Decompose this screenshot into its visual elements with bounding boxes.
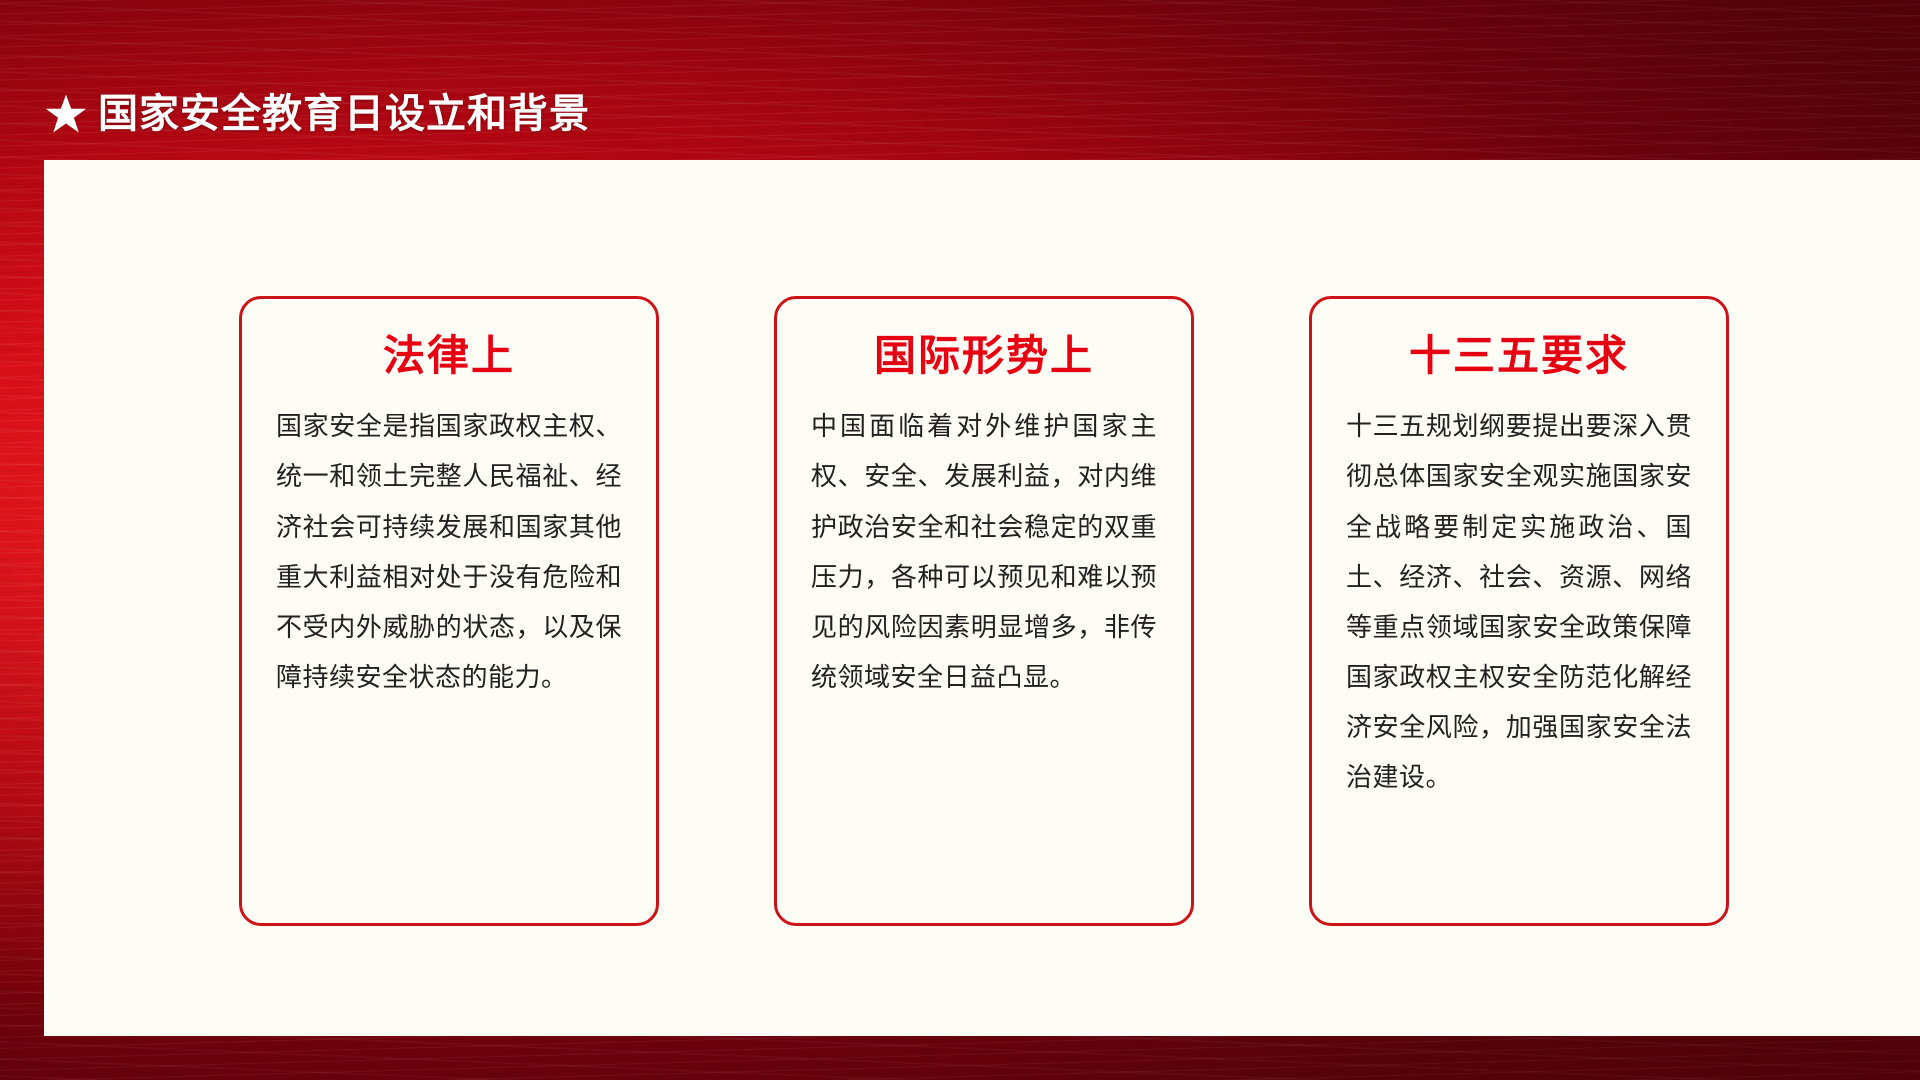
card-body: 中国面临着对外维护国家主权、安全、发展利益，对内维护政治安全和社会稳定的双重压力… xyxy=(811,401,1157,702)
info-card-international-situation: 国际形势上 中国面临着对外维护国家主权、安全、发展利益，对内维护政治安全和社会稳… xyxy=(774,296,1194,926)
info-card-legal: 法律上 国家安全是指国家政权主权、统一和领土完整人民福祉、经济社会可持续发展和国… xyxy=(239,296,659,926)
content-panel: 法律上 国家安全是指国家政权主权、统一和领土完整人民福祉、经济社会可持续发展和国… xyxy=(44,160,1920,1036)
card-body: 国家安全是指国家政权主权、统一和领土完整人民福祉、经济社会可持续发展和国家其他重… xyxy=(276,401,622,702)
star-icon xyxy=(44,92,88,136)
card-title: 国际形势上 xyxy=(874,333,1094,379)
card-list: 法律上 国家安全是指国家政权主权、统一和领土完整人民福祉、经济社会可持续发展和国… xyxy=(44,296,1920,926)
info-card-13th-five-year-plan: 十三五要求 十三五规划纲要提出要深入贯彻总体国家安全观实施国家安全战略要制定实施… xyxy=(1309,296,1729,926)
card-title: 法律上 xyxy=(383,333,515,379)
card-body: 十三五规划纲要提出要深入贯彻总体国家安全观实施国家安全战略要制定实施政治、国土、… xyxy=(1346,401,1692,802)
slide-header: 国家安全教育日设立和背景 xyxy=(44,92,590,136)
slide-root: 国家安全教育日设立和背景 法律上 国家安全是指国家政权主权、统一和领土完整人民福… xyxy=(0,0,1920,1080)
card-title: 十三五要求 xyxy=(1409,333,1629,379)
page-title: 国家安全教育日设立和背景 xyxy=(98,94,590,134)
